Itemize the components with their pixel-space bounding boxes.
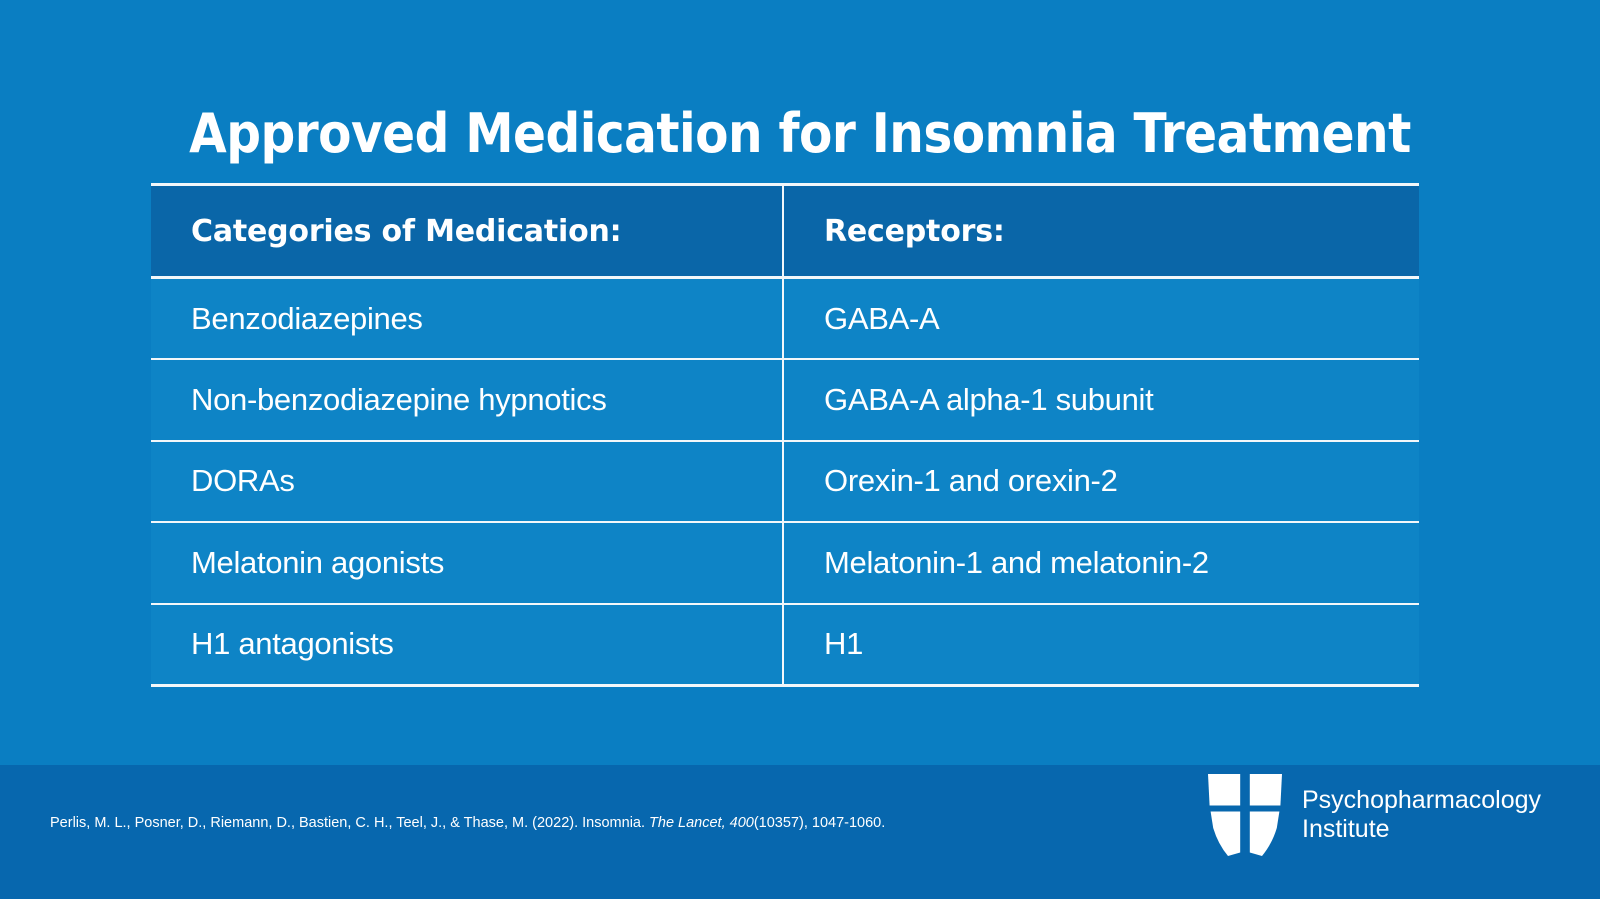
medication-table-container: Categories of Medication: Receptors: Ben… — [151, 183, 1419, 687]
table-body: Benzodiazepines GABA-A Non-benzodiazepin… — [151, 278, 1419, 686]
cell-category: DORAs — [151, 441, 783, 523]
table-header-row: Categories of Medication: Receptors: — [151, 185, 1419, 278]
citation-volume: 400 — [730, 815, 754, 831]
citation-issue-pages: (10357), 1047-1060. — [754, 815, 885, 831]
column-header-receptors: Receptors: — [783, 185, 1419, 278]
cell-category: Benzodiazepines — [151, 278, 783, 360]
table-row: Non-benzodiazepine hypnotics GABA-A alph… — [151, 359, 1419, 441]
table-row: Benzodiazepines GABA-A — [151, 278, 1419, 360]
cell-receptor: GABA-A — [783, 278, 1419, 360]
cell-receptor: H1 — [783, 604, 1419, 686]
table-row: DORAs Orexin-1 and orexin-2 — [151, 441, 1419, 523]
citation-authors-title: Perlis, M. L., Posner, D., Riemann, D., … — [50, 815, 649, 831]
brand-name-line1: Psychopharmacology — [1302, 786, 1541, 815]
cell-receptor: GABA-A alpha-1 subunit — [783, 359, 1419, 441]
brand-name-line2: Institute — [1302, 815, 1541, 844]
column-header-categories: Categories of Medication: — [151, 185, 783, 278]
table-header: Categories of Medication: Receptors: — [151, 185, 1419, 278]
slide-canvas: Approved Medication for Insomnia Treatme… — [0, 0, 1600, 899]
cell-receptor: Orexin-1 and orexin-2 — [783, 441, 1419, 523]
page-title: Approved Medication for Insomnia Treatme… — [80, 102, 1520, 165]
brand-name: Psychopharmacology Institute — [1302, 786, 1541, 844]
cell-category: Non-benzodiazepine hypnotics — [151, 359, 783, 441]
citation-text: Perlis, M. L., Posner, D., Riemann, D., … — [50, 813, 885, 833]
medication-table: Categories of Medication: Receptors: Ben… — [151, 183, 1419, 687]
cell-category: Melatonin agonists — [151, 522, 783, 604]
cell-category: H1 antagonists — [151, 604, 783, 686]
citation-journal: The Lancet, — [649, 815, 730, 831]
cell-receptor: Melatonin-1 and melatonin-2 — [783, 522, 1419, 604]
table-row: Melatonin agonists Melatonin-1 and melat… — [151, 522, 1419, 604]
table-row: H1 antagonists H1 — [151, 604, 1419, 686]
brand-logo: Psychopharmacology Institute — [1206, 772, 1546, 858]
shield-icon — [1206, 772, 1284, 858]
